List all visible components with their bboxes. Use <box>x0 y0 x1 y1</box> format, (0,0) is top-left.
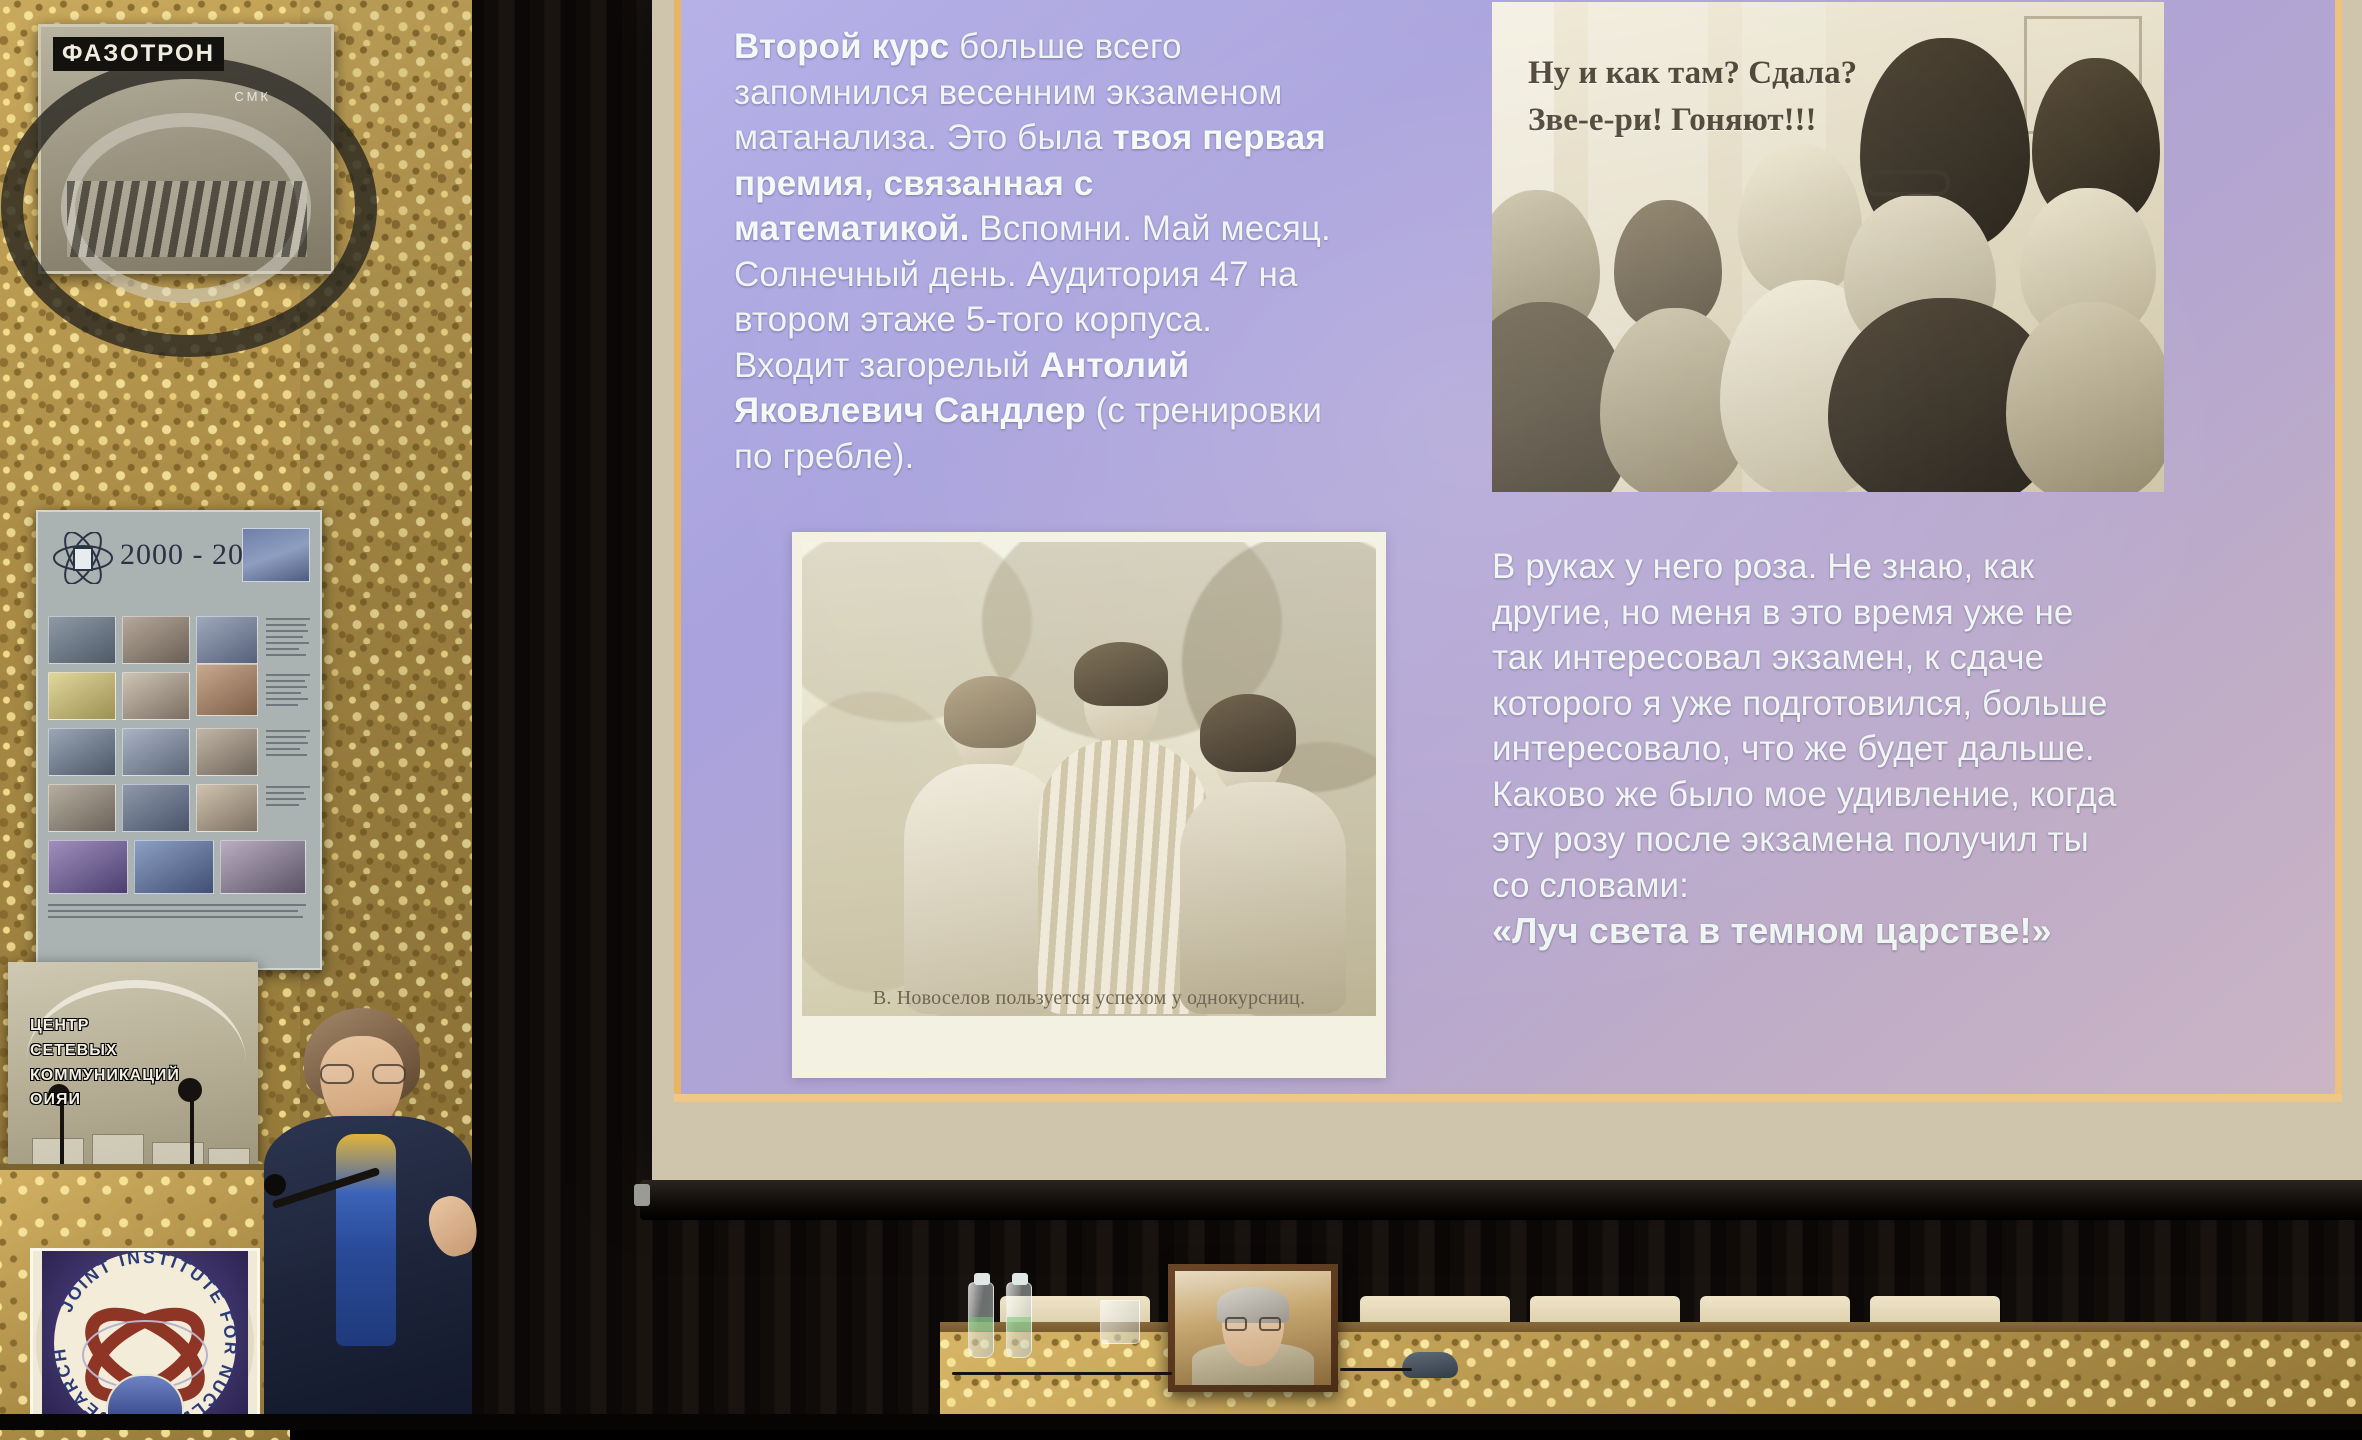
friends-photo-image: В. Новоселов пользуется успехом у одноку… <box>802 542 1376 1016</box>
slide-photo-three-friends: В. Новоселов пользуется успехом у одноку… <box>792 532 1386 1078</box>
glasses-icon <box>318 1064 408 1084</box>
slide-right-accent <box>2335 0 2342 1102</box>
slide-right-quote: «Луч света в темном царстве!» <box>1492 908 2132 955</box>
jinr-seal: JOINT INSTITUTE FOR NUCLEAR RESEARCH <box>42 1248 248 1430</box>
slide-right-paragraph: В руках у него роза. Не знаю, как другие… <box>1492 544 2132 955</box>
slide-left-accent <box>674 0 681 1102</box>
screen-roller-bar <box>640 1180 2362 1220</box>
water-bottle <box>1006 1282 1032 1358</box>
exam-photo-caption: Ну и как там? Сдала? Зве-е-ри! Гоняют!!! <box>1528 50 1857 144</box>
slide-left-run1: Второй курс <box>734 27 949 66</box>
building-photo-thumb <box>242 528 310 582</box>
floor <box>0 1414 2362 1430</box>
presentation-slide: Второй курс больше всего запомнился весе… <box>674 0 2342 1102</box>
projection-screen: Второй курс больше всего запомнился весе… <box>652 0 2362 1184</box>
atom-icon <box>52 532 114 584</box>
poster-timeline-2000-2018: 2000 - 2018 <box>36 510 322 970</box>
memorial-portrait-frame <box>1168 1264 1338 1392</box>
computer-mouse[interactable] <box>1402 1352 1458 1378</box>
speaker-scarf <box>336 1134 396 1346</box>
poster-timeline-grid <box>46 608 312 962</box>
water-bottle <box>968 1282 994 1358</box>
slide-bottom-accent <box>674 1094 2342 1102</box>
fazotron-machine-mark: СМК <box>234 89 271 104</box>
poster-network-title: ЦЕНТР СЕТЕВЫХ КОММУНИКАЦИЙ ОИЯИ <box>30 1014 180 1113</box>
friends-photo-caption: В. Новоселов пользуется успехом у одноку… <box>802 987 1376 1010</box>
portrait-glasses-icon <box>1225 1317 1281 1331</box>
cable <box>1340 1368 1412 1371</box>
portrait-image <box>1175 1271 1331 1385</box>
slide-right-body: В руках у него роза. Не знаю, как другие… <box>1492 547 2116 905</box>
slide-left-paragraph: Второй курс больше всего запомнился весе… <box>734 24 1334 479</box>
cable <box>952 1372 1172 1375</box>
lecture-hall-scene: СМК ФАЗОТРОН 2000 - 2018 <box>0 0 2362 1430</box>
jinr-logo: JOINT INSTITUTE FOR NUCLEAR RESEARCH <box>30 1248 260 1430</box>
drinking-glass <box>1100 1300 1140 1344</box>
fazotron-label: ФАЗОТРОН <box>53 37 224 71</box>
slide-photo-exam-corridor: Ну и как там? Сдала? Зве-е-ри! Гоняют!!! <box>1492 2 2164 492</box>
poster-fazotron: СМК ФАЗОТРОН <box>38 24 334 274</box>
microphone-icon <box>264 1174 286 1196</box>
speaker-person <box>258 1008 478 1430</box>
